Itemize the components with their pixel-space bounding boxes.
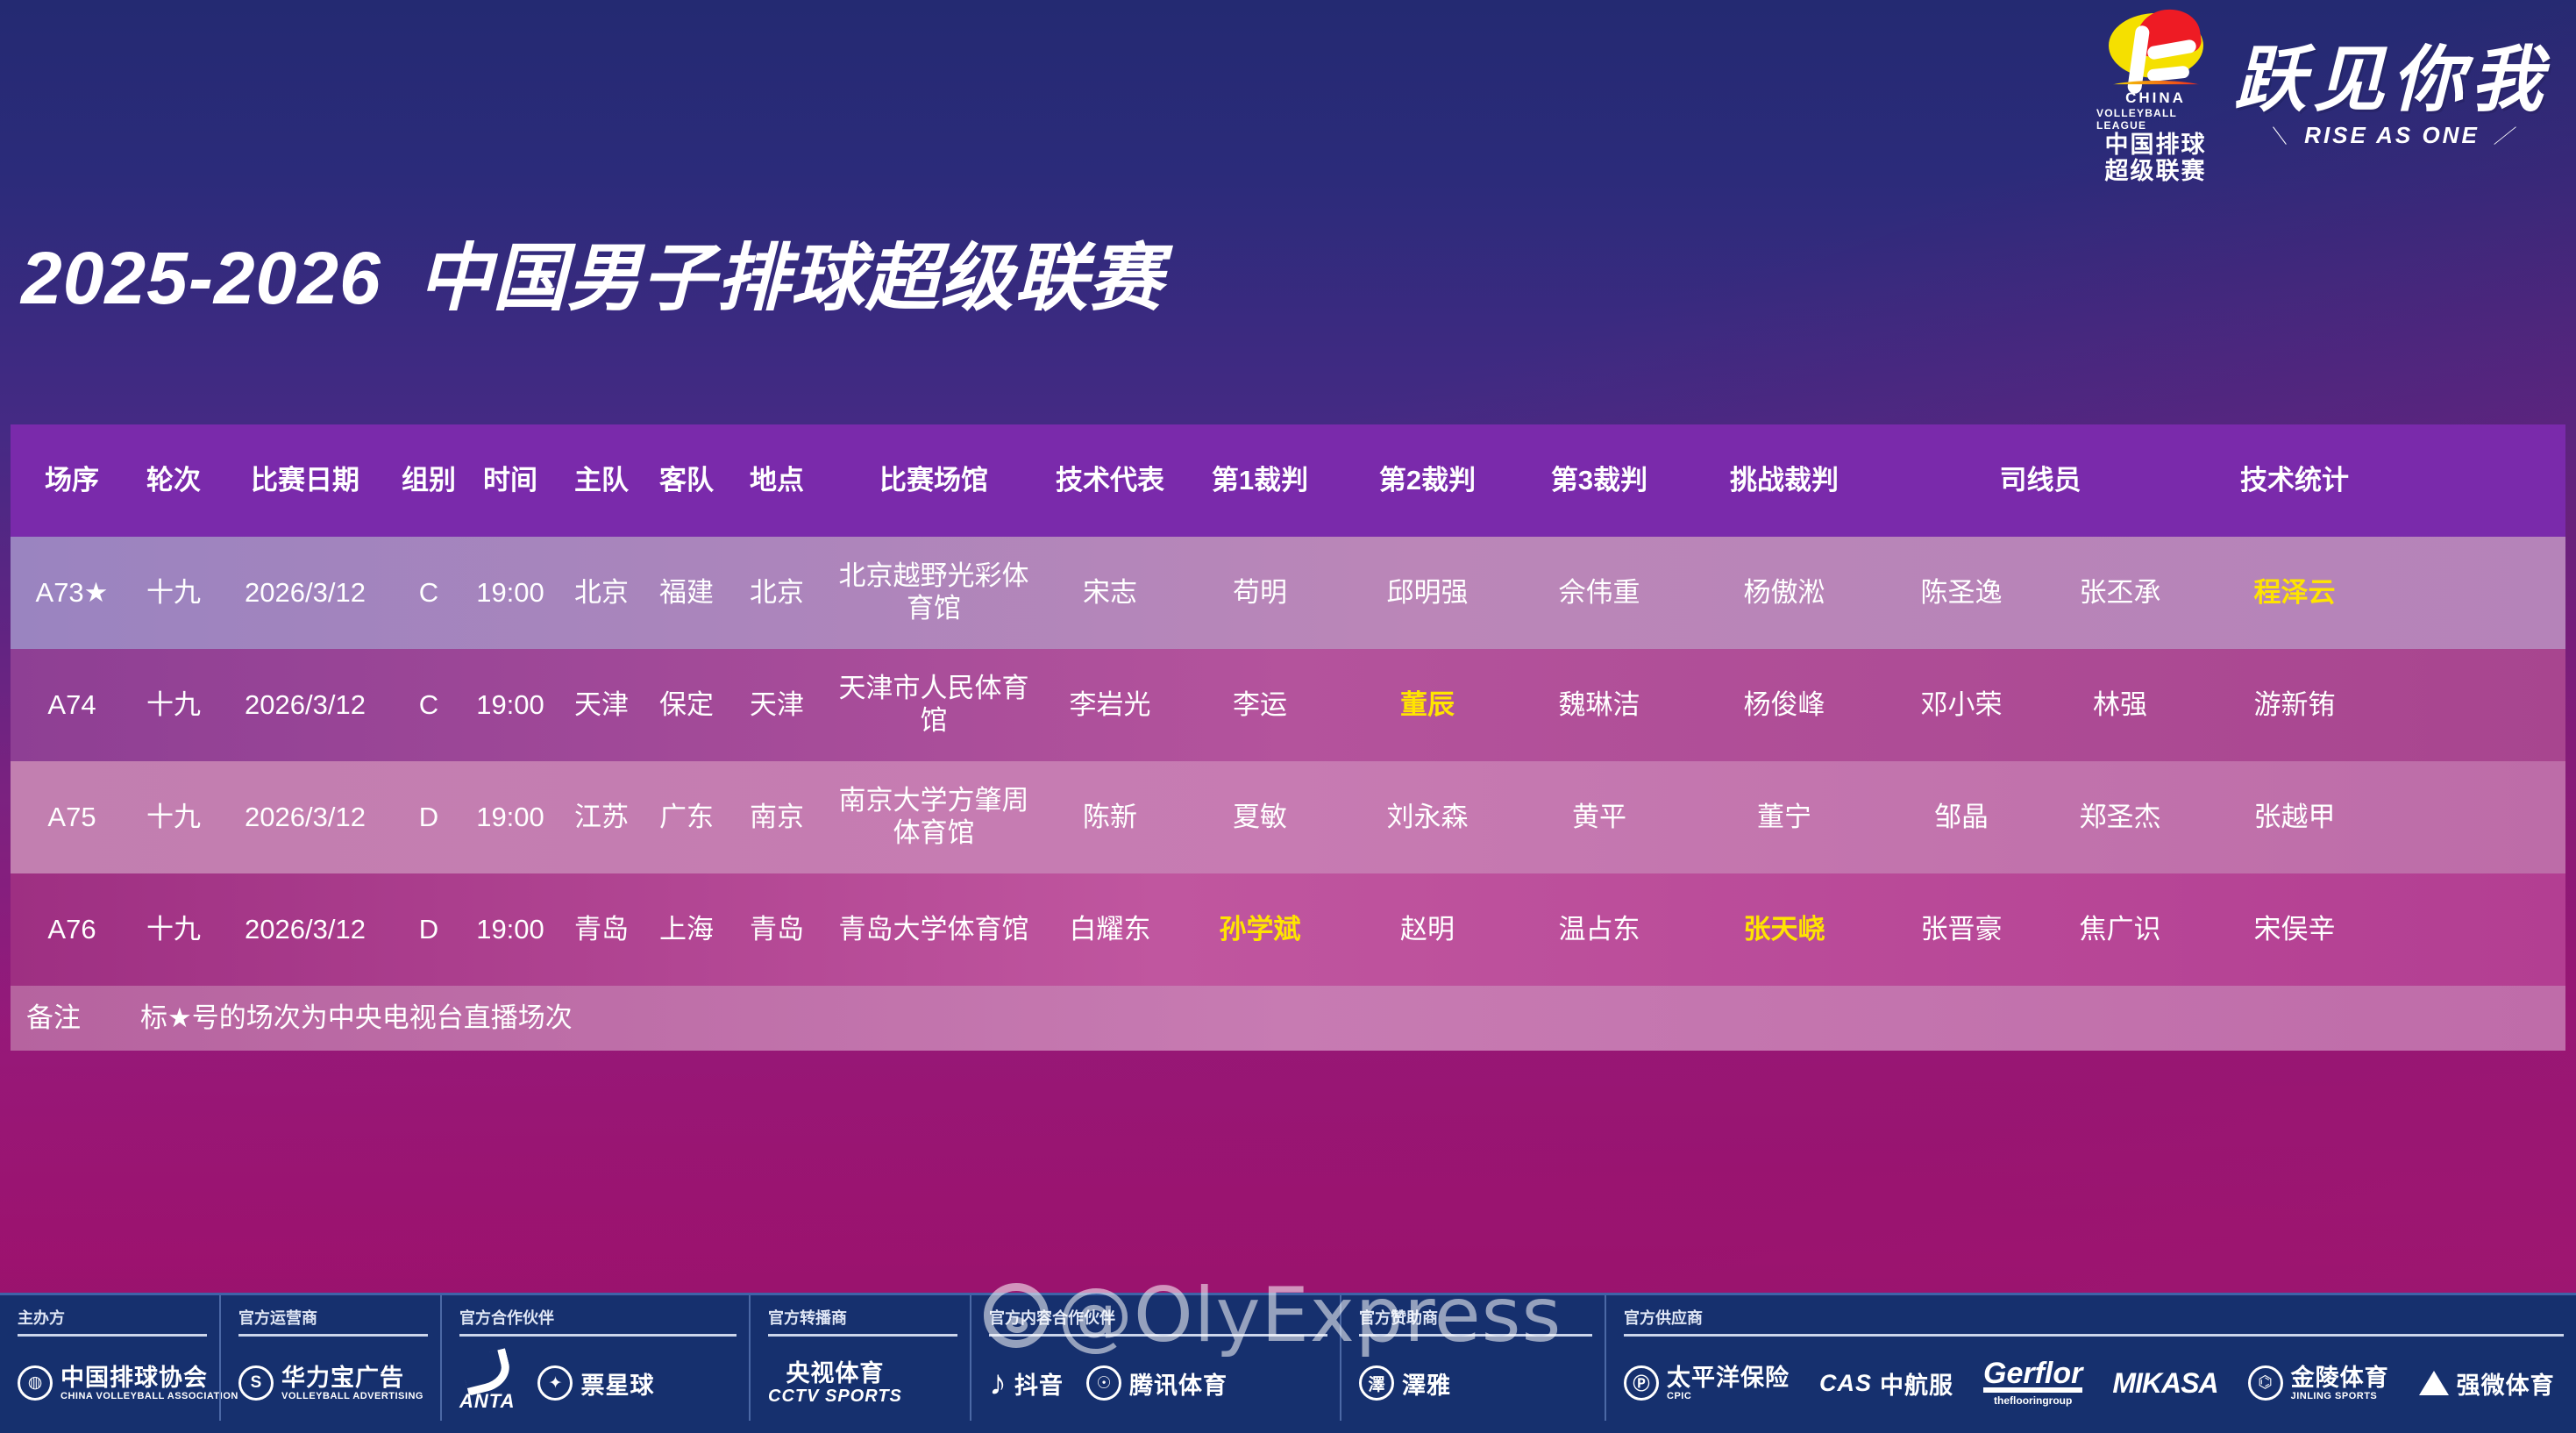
slogan-english: ＼ RISE AS ONE ／ bbox=[2263, 121, 2521, 149]
sponsor-group-content-partners: 官方内容合作伙伴 ♪ 抖音 ☉ 腾讯体育 bbox=[970, 1295, 1340, 1421]
poster-canvas: CHINA VOLLEYBALL LEAGUE 中国排球 超级联赛 跃见你我 ＼… bbox=[0, 0, 2576, 1433]
sponsor-logo-mikasa[interactable]: MIKASA bbox=[2112, 1367, 2217, 1400]
cell-tech-delegate: 李岩光 bbox=[1043, 649, 1177, 761]
col-header-place: 地点 bbox=[729, 424, 824, 537]
sponsor-name: 中航服 bbox=[1880, 1366, 1953, 1401]
cell-group: D bbox=[396, 873, 461, 986]
cell-referee2: 董辰 bbox=[1343, 649, 1512, 761]
cell-venue: 南京大学方肇周体育馆 bbox=[824, 761, 1043, 873]
sponsor-subtitle: theflooringroup bbox=[1994, 1393, 2072, 1407]
cell-time: 19:00 bbox=[461, 537, 559, 649]
sponsor-group-suppliers: 官方供应商 Ⓟ 太平洋保险 CPIC CAS 中航服 Gerflor bbox=[1605, 1295, 2576, 1421]
col-header-referee1: 第1裁判 bbox=[1177, 424, 1343, 537]
cell-referee3: 黄平 bbox=[1512, 761, 1687, 873]
col-header-date: 比赛日期 bbox=[214, 424, 396, 537]
cell-home: 北京 bbox=[559, 537, 644, 649]
anta-swoosh-icon bbox=[460, 1348, 515, 1396]
cell-date: 2026/3/12 bbox=[214, 761, 396, 873]
sponsor-logo-qiangwei[interactable]: 强微体育 bbox=[2419, 1366, 2555, 1401]
sponsor-logo-cctv-sports[interactable]: 央视体育 CCTV SPORTS bbox=[768, 1360, 902, 1407]
slogan-chinese: 跃见你我 bbox=[2234, 44, 2550, 116]
cell-seq: A76 bbox=[11, 873, 133, 986]
jinling-icon: ⌬ bbox=[2248, 1365, 2283, 1401]
cell-round: 十九 bbox=[133, 873, 214, 986]
cell-place: 青岛 bbox=[729, 873, 824, 986]
slogan-english-text: RISE AS ONE bbox=[2304, 122, 2480, 148]
sponsor-group-title: 主办方 bbox=[0, 1306, 219, 1334]
cell-tech-delegate: 宋志 bbox=[1043, 537, 1177, 649]
sponsor-subtitle: CHINA VOLLEYBALL ASSOCIATION bbox=[60, 1391, 238, 1401]
sponsor-group-title: 官方供应商 bbox=[1606, 1306, 2576, 1334]
sponsor-logo-anta[interactable]: ANTA bbox=[459, 1353, 515, 1413]
cell-referee3: 温占东 bbox=[1512, 873, 1687, 986]
cell-referee3: 魏琳洁 bbox=[1512, 649, 1687, 761]
col-header-seq: 场序 bbox=[11, 424, 133, 537]
cell-time: 19:00 bbox=[461, 761, 559, 873]
cell-venue: 青岛大学体育馆 bbox=[824, 873, 1043, 986]
cell-linesman2: 郑圣杰 bbox=[2041, 761, 2199, 873]
col-header-statistician: 技术统计 bbox=[2199, 424, 2390, 537]
cell-statistician: 宋俣辛 bbox=[2199, 873, 2390, 986]
cell-date: 2026/3/12 bbox=[214, 649, 396, 761]
sponsor-logo-huilibao[interactable]: S 华力宝广告 VOLLEYBALL ADVERTISING bbox=[238, 1365, 423, 1402]
league-slogan: 跃见你我 ＼ RISE AS ONE ／ bbox=[2234, 44, 2550, 154]
sponsor-logo-cpic[interactable]: Ⓟ 太平洋保险 CPIC bbox=[1624, 1365, 1790, 1402]
cell-challenge-referee: 杨傲淞 bbox=[1687, 537, 1882, 649]
qiangwei-mountain-icon bbox=[2419, 1371, 2449, 1395]
cell-home: 青岛 bbox=[559, 873, 644, 986]
league-branding: CHINA VOLLEYBALL LEAGUE 中国排球 超级联赛 跃见你我 ＼… bbox=[2096, 9, 2550, 189]
cell-referee1: 李运 bbox=[1177, 649, 1343, 761]
sponsor-name: Gerflor bbox=[1983, 1359, 2082, 1393]
cpic-icon: Ⓟ bbox=[1624, 1365, 1659, 1401]
sponsor-group-partners: 官方合作伙伴 ANTA ✦ 票星球 bbox=[440, 1295, 749, 1421]
cell-referee2: 刘永森 bbox=[1343, 761, 1512, 873]
cell-linesman1: 邓小荣 bbox=[1882, 649, 2041, 761]
cell-linesman2: 张丕承 bbox=[2041, 537, 2199, 649]
sponsor-group-operator: 官方运营商 S 华力宝广告 VOLLEYBALL ADVERTISING bbox=[219, 1295, 440, 1421]
sponsor-group-title: 官方运营商 bbox=[221, 1306, 440, 1334]
title-season: 2025-2026 bbox=[21, 237, 381, 319]
slogan-quote-right-icon: ／ bbox=[2488, 125, 2521, 147]
piaoxingqiu-icon: ✦ bbox=[537, 1365, 573, 1401]
schedule-table: 场序 轮次 比赛日期 组别 时间 主队 客队 地点 比赛场馆 技术代表 第1裁判… bbox=[11, 424, 2565, 1051]
col-header-away: 客队 bbox=[644, 424, 729, 537]
sponsor-group-title: 官方赞助商 bbox=[1341, 1306, 1605, 1334]
logo-cn-line1: 中国排球 bbox=[2105, 132, 2207, 158]
sponsor-group-title: 官方转播商 bbox=[751, 1306, 970, 1334]
sponsor-logo-tencent-sports[interactable]: ☉ 腾讯体育 bbox=[1086, 1365, 1228, 1401]
cell-seq: A75 bbox=[11, 761, 133, 873]
title-league-name: 中国男子排球超级联赛 bbox=[381, 235, 1163, 321]
huilibao-icon: S bbox=[238, 1365, 274, 1401]
cell-away: 保定 bbox=[644, 649, 729, 761]
cell-linesman1: 张晋豪 bbox=[1882, 873, 2041, 986]
cell-date: 2026/3/12 bbox=[214, 873, 396, 986]
cell-tech-delegate: 陈新 bbox=[1043, 761, 1177, 873]
cell-away: 上海 bbox=[644, 873, 729, 986]
volleyball-icon: ◍ bbox=[18, 1365, 53, 1401]
cell-group: C bbox=[396, 649, 461, 761]
cell-place: 北京 bbox=[729, 537, 824, 649]
sponsor-logo-gerflor[interactable]: Gerflor theflooringroup bbox=[1983, 1359, 2082, 1408]
table-row[interactable]: A76 十九 2026/3/12 D 19:00 青岛 上海 青岛 青岛大学体育… bbox=[11, 873, 2565, 986]
col-header-tech-delegate: 技术代表 bbox=[1043, 424, 1177, 537]
cell-statistician: 游新铕 bbox=[2199, 649, 2390, 761]
sponsor-logo-piaoxingqiu[interactable]: ✦ 票星球 bbox=[537, 1365, 654, 1401]
cell-seq: A73★ bbox=[11, 537, 133, 649]
sponsor-subtitle: JINLING SPORTS bbox=[2291, 1391, 2389, 1401]
volleyball-logo-icon bbox=[2109, 13, 2203, 78]
sponsor-name: MIKASA bbox=[2112, 1367, 2217, 1400]
cell-statistician: 程泽云 bbox=[2199, 537, 2390, 649]
table-note-row: 备注 标★号的场次为中央电视台直播场次 bbox=[11, 986, 2565, 1051]
sponsor-logo-cas[interactable]: CAS 中航服 bbox=[1819, 1366, 1953, 1401]
cell-linesman2: 焦广识 bbox=[2041, 873, 2199, 986]
douyin-note-icon: ♪ bbox=[989, 1364, 1007, 1403]
cell-place: 天津 bbox=[729, 649, 824, 761]
zeya-emblem-icon: 澤 bbox=[1359, 1365, 1394, 1401]
table-row[interactable]: A74 十九 2026/3/12 C 19:00 天津 保定 天津 天津市人民体… bbox=[11, 649, 2565, 761]
sponsor-name: 央视体育 bbox=[786, 1360, 884, 1387]
sponsor-name: 澤雅 bbox=[1402, 1366, 1451, 1401]
table-row[interactable]: A73★ 十九 2026/3/12 C 19:00 北京 福建 北京 北京越野光… bbox=[11, 537, 2565, 649]
cell-round: 十九 bbox=[133, 537, 214, 649]
sponsor-name: 金陵体育 bbox=[2291, 1365, 2389, 1391]
page-title: 2025-2026中国男子排球超级联赛 bbox=[21, 219, 1163, 325]
sponsor-footer: 主办方 ◍ 中国排球协会 CHINA VOLLEYBALL ASSOCIATIO… bbox=[0, 1293, 2576, 1433]
cell-referee1: 孙学斌 bbox=[1177, 873, 1343, 986]
cell-away: 福建 bbox=[644, 537, 729, 649]
cvl-logo: CHINA VOLLEYBALL LEAGUE 中国排球 超级联赛 bbox=[2096, 13, 2215, 184]
sponsor-subtitle: CPIC bbox=[1667, 1391, 1790, 1401]
sponsor-name: ANTA bbox=[459, 1391, 515, 1413]
cell-group: D bbox=[396, 761, 461, 873]
tencent-penguin-icon: ☉ bbox=[1086, 1365, 1121, 1401]
cell-home: 江苏 bbox=[559, 761, 644, 873]
sponsor-name: 太平洋保险 bbox=[1667, 1365, 1790, 1391]
cell-linesman1: 邹晶 bbox=[1882, 761, 2041, 873]
cell-challenge-referee: 张天峣 bbox=[1687, 873, 1882, 986]
logo-cn-line2: 超级联赛 bbox=[2105, 158, 2207, 184]
sponsor-subtitle: CAS bbox=[1819, 1370, 1872, 1397]
cell-time: 19:00 bbox=[461, 649, 559, 761]
col-header-home: 主队 bbox=[559, 424, 644, 537]
sponsor-group-title: 官方合作伙伴 bbox=[442, 1306, 749, 1334]
sponsor-group-title: 官方内容合作伙伴 bbox=[971, 1306, 1340, 1334]
col-header-group: 组别 bbox=[396, 424, 461, 537]
cell-group: C bbox=[396, 537, 461, 649]
cell-referee1: 苟明 bbox=[1177, 537, 1343, 649]
sponsor-group-sponsor: 官方赞助商 澤 澤雅 bbox=[1340, 1295, 1605, 1421]
col-header-venue: 比赛场馆 bbox=[824, 424, 1043, 537]
cell-home: 天津 bbox=[559, 649, 644, 761]
cell-referee1: 夏敏 bbox=[1177, 761, 1343, 873]
sponsor-name: 抖音 bbox=[1014, 1366, 1064, 1401]
table-row[interactable]: A75 十九 2026/3/12 D 19:00 江苏 广东 南京 南京大学方肇… bbox=[11, 761, 2565, 873]
cell-referee3: 佘伟重 bbox=[1512, 537, 1687, 649]
note-label: 备注 bbox=[11, 986, 133, 1051]
cell-time: 19:00 bbox=[461, 873, 559, 986]
col-header-referee2: 第2裁判 bbox=[1343, 424, 1512, 537]
cell-linesman2: 林强 bbox=[2041, 649, 2199, 761]
sponsor-subtitle: CCTV SPORTS bbox=[768, 1387, 902, 1406]
sponsor-logo-jinling[interactable]: ⌬ 金陵体育 JINLING SPORTS bbox=[2248, 1365, 2389, 1402]
sponsor-subtitle: VOLLEYBALL ADVERTISING bbox=[281, 1391, 423, 1401]
col-header-challenge-referee: 挑战裁判 bbox=[1687, 424, 1882, 537]
cell-linesman1: 陈圣逸 bbox=[1882, 537, 2041, 649]
cell-challenge-referee: 杨俊峰 bbox=[1687, 649, 1882, 761]
logo-arc-icon bbox=[2107, 81, 2205, 89]
cell-place: 南京 bbox=[729, 761, 824, 873]
sponsor-logo-zeya[interactable]: 澤 澤雅 bbox=[1359, 1365, 1451, 1401]
cell-venue: 北京越野光彩体育馆 bbox=[824, 537, 1043, 649]
col-header-time: 时间 bbox=[461, 424, 559, 537]
note-text: 标★号的场次为中央电视台直播场次 bbox=[133, 986, 2565, 1051]
cell-date: 2026/3/12 bbox=[214, 537, 396, 649]
cell-seq: A74 bbox=[11, 649, 133, 761]
col-header-linesmen: 司线员 bbox=[1882, 424, 2199, 537]
sponsor-logo-douyin[interactable]: ♪ 抖音 bbox=[989, 1364, 1064, 1403]
cell-statistician: 张越甲 bbox=[2199, 761, 2390, 873]
col-header-referee3: 第3裁判 bbox=[1512, 424, 1687, 537]
col-header-round: 轮次 bbox=[133, 424, 214, 537]
cell-referee2: 赵明 bbox=[1343, 873, 1512, 986]
sponsor-logo-cva[interactable]: ◍ 中国排球协会 CHINA VOLLEYBALL ASSOCIATION bbox=[18, 1365, 238, 1402]
slogan-quote-left-icon: ＼ bbox=[2263, 125, 2295, 147]
cell-venue: 天津市人民体育馆 bbox=[824, 649, 1043, 761]
cell-referee2: 邱明强 bbox=[1343, 537, 1512, 649]
table-header-row: 场序 轮次 比赛日期 组别 时间 主队 客队 地点 比赛场馆 技术代表 第1裁判… bbox=[11, 424, 2565, 537]
sponsor-name: 票星球 bbox=[580, 1366, 654, 1401]
sponsor-name: 腾讯体育 bbox=[1129, 1366, 1228, 1401]
cell-round: 十九 bbox=[133, 761, 214, 873]
cell-challenge-referee: 董宁 bbox=[1687, 761, 1882, 873]
cell-away: 广东 bbox=[644, 761, 729, 873]
sponsor-name: 强微体育 bbox=[2457, 1366, 2555, 1401]
sponsor-name: 中国排球协会 bbox=[60, 1365, 238, 1391]
cell-round: 十九 bbox=[133, 649, 214, 761]
sponsor-group-organizer: 主办方 ◍ 中国排球协会 CHINA VOLLEYBALL ASSOCIATIO… bbox=[0, 1295, 219, 1421]
sponsor-group-broadcaster: 官方转播商 央视体育 CCTV SPORTS bbox=[749, 1295, 970, 1421]
logo-en-line2: VOLLEYBALL LEAGUE bbox=[2096, 107, 2215, 132]
cell-tech-delegate: 白耀东 bbox=[1043, 873, 1177, 986]
sponsor-name: 华力宝广告 bbox=[281, 1365, 423, 1391]
